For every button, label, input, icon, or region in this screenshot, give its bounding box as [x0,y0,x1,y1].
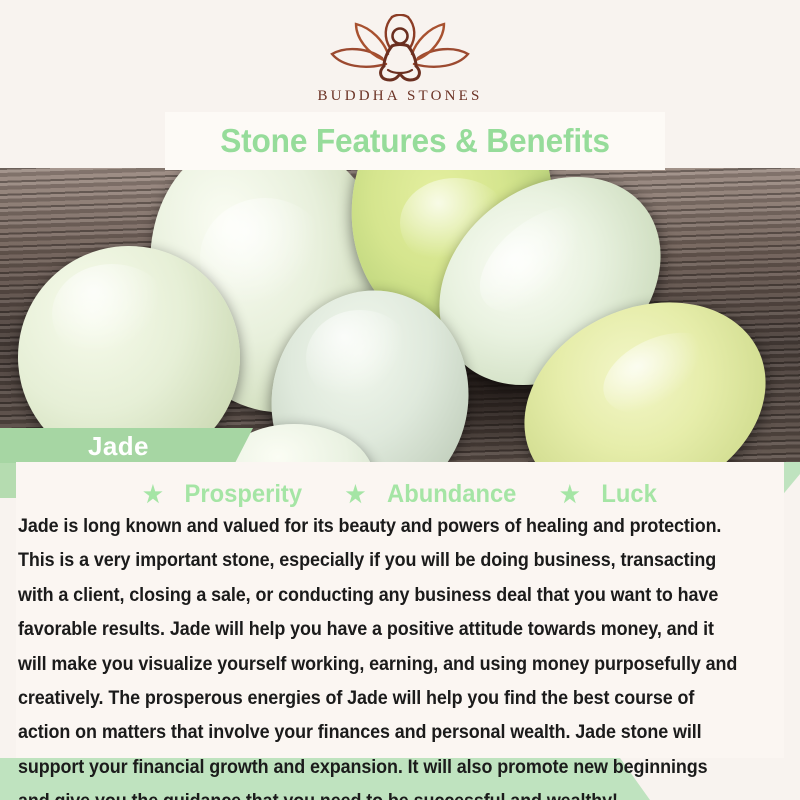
stone-description: Jade is long known and valued for its be… [18,510,742,800]
stone-name-label: Jade [88,430,149,462]
brand-logo: BUDDHA STONES [0,14,800,105]
lotus-meditation-icon [324,14,476,84]
benefit-star-2: ★ [346,481,366,507]
benefit-star-3: ★ [560,481,580,507]
benefit-label-2: Abundance [387,480,516,508]
benefits-list: ★ Prosperity ★ Abundance ★ Luck [35,478,765,510]
stone-photo [0,168,800,462]
brand-name: BUDDHA STONES [0,88,800,105]
benefit-label-3: Luck [601,480,656,508]
benefit-star-1: ★ [143,481,163,507]
benefit-label-1: Prosperity [185,480,302,508]
page-title: Stone Features & Benefits [175,121,655,161]
infographic-page: BUDDHA STONES Stone Features & Benefits … [0,0,800,800]
